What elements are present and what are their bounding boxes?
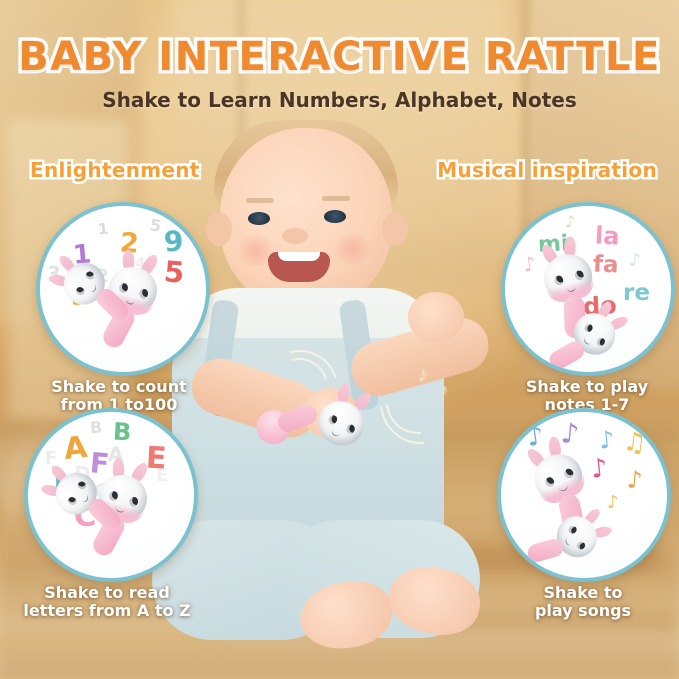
floating-glyph: ♪ — [598, 427, 615, 452]
rattle-handle — [546, 338, 587, 372]
floating-glyph: 1 — [97, 221, 109, 237]
floating-glyph: ♪ — [607, 494, 619, 512]
floating-glyph: ♪ — [565, 214, 575, 230]
caption-line-1: Shake to count — [4, 378, 234, 396]
baby-brow-left — [246, 198, 274, 203]
feature-caption-letters: Shake to read letters from A to Z — [0, 584, 222, 620]
floating-glyph: ♪ — [522, 253, 537, 275]
rattle-handle — [526, 537, 566, 564]
floating-glyph: ♪ — [525, 423, 545, 451]
feature-bubble-letters[interactable]: CCEDDFFEAABB — [24, 408, 198, 582]
sound-note-doodle-2: ♪ — [440, 382, 448, 400]
caption-line-1: Shake to play — [472, 378, 679, 396]
caption-line-2: letters from A to Z — [0, 602, 222, 620]
feature-bubble-songs-glyphs: ♪♪♪♫♪♪♪ — [501, 412, 667, 578]
floating-glyph: ♪ — [626, 467, 643, 492]
feature-bubble-songs[interactable]: ♪♪♪♫♪♪♪ — [497, 408, 671, 582]
baby-nose — [282, 228, 308, 244]
feature-caption-songs: Shake to play songs — [468, 584, 679, 620]
baby-head — [220, 128, 392, 310]
baby-ear-left — [206, 212, 232, 246]
page-title: BABY INTERACTIVE RATTLE — [0, 34, 679, 80]
floating-glyph: fa — [593, 254, 619, 278]
feature-bubble-notes[interactable]: ♪♪♪dorefalami — [501, 202, 675, 376]
infographic-canvas: ♪ ♪ BABY INTERACTIVE RATTLE Shake to Lea… — [0, 0, 679, 679]
feature-bubble-letters-glyphs: CCEDDFFEAABB — [28, 412, 194, 578]
floating-glyph: ♪ — [628, 251, 641, 270]
floating-glyph: ♪ — [560, 419, 581, 449]
caption-line-2: play songs — [468, 602, 679, 620]
section-label-musical-inspiration: Musical inspiration — [437, 158, 657, 182]
caption-line-1: Shake to — [468, 584, 679, 602]
section-label-enlightenment: Enlightenment — [30, 158, 200, 182]
baby-eye-right — [324, 210, 346, 223]
floating-glyph: la — [594, 223, 620, 248]
floating-glyph: 5 — [149, 217, 162, 234]
floating-glyph: ♪ — [590, 455, 609, 483]
baby-mouth — [268, 252, 330, 282]
baby-brow-right — [322, 196, 350, 201]
floating-glyph: A — [62, 433, 88, 465]
floating-glyph: B — [89, 420, 102, 437]
feature-bubble-count-glyphs: 4532319521 — [40, 206, 206, 372]
baby-hand-right — [408, 292, 464, 342]
sound-note-doodle-1: ♪ — [418, 364, 428, 387]
feature-bubble-notes-glyphs: ♪♪♪dorefalami — [505, 206, 671, 372]
floating-glyph: ♫ — [622, 429, 648, 458]
page-subtitle: Shake to Learn Numbers, Alphabet, Notes — [0, 88, 679, 112]
floating-glyph: 9 — [163, 227, 184, 256]
floating-glyph: B — [112, 420, 132, 445]
feature-bubble-count[interactable]: 4532319521 — [36, 202, 210, 376]
baby-ear-right — [382, 212, 408, 246]
baby-cheek-right — [330, 234, 374, 264]
caption-line-1: Shake to read — [0, 584, 222, 602]
baby-eye-left — [248, 212, 270, 225]
floating-glyph: re — [623, 282, 650, 305]
floating-glyph: E — [145, 443, 167, 474]
floating-glyph: 5 — [163, 257, 186, 288]
